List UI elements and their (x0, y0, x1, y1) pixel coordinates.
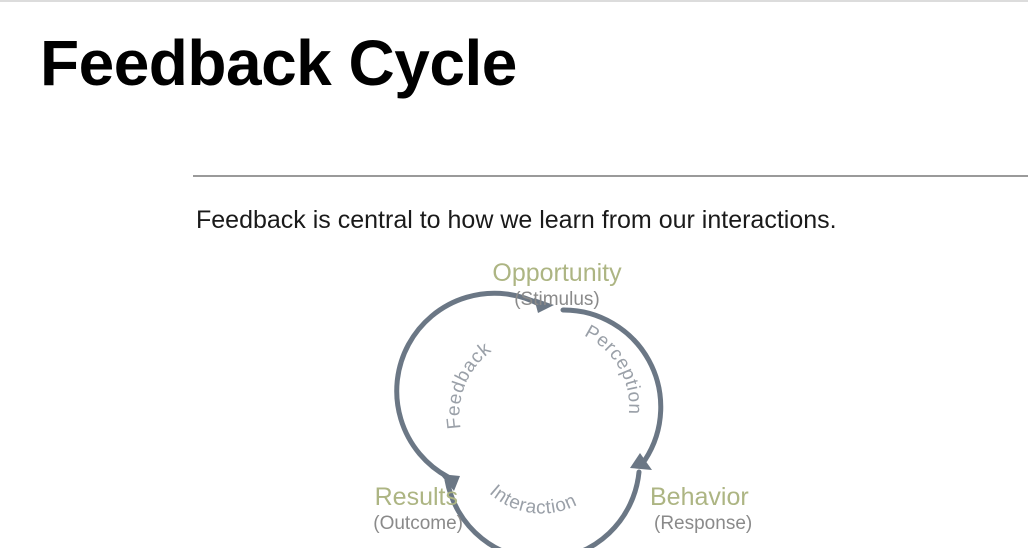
arc-label-interaction-text: Interaction (486, 481, 580, 519)
feedback-cycle-diagram: Perception Interaction Feedback Opportun… (330, 248, 790, 548)
cycle-node-opportunity: Opportunity (Stimulus) (492, 259, 622, 310)
arc-label-perception: Perception (581, 321, 645, 415)
arc-label-feedback-text: Feedback (443, 338, 495, 430)
title-divider (193, 175, 1028, 177)
cycle-arc-labels: Perception Interaction Feedback (443, 321, 645, 518)
cycle-node-opportunity-label: Opportunity (492, 259, 622, 287)
cycle-node-opportunity-sublabel: (Stimulus) (514, 289, 600, 310)
arc-perception (563, 310, 661, 460)
page-title: Feedback Cycle (40, 30, 517, 97)
arc-label-interaction: Interaction (486, 481, 580, 519)
arc-label-perception-text: Perception (581, 321, 645, 415)
slide-subtitle: Feedback is central to how we learn from… (196, 206, 837, 235)
cycle-node-behavior: Behavior (Response) (650, 483, 752, 534)
slide-canvas: Feedback Cycle Feedback is central to ho… (0, 0, 1028, 535)
arc-label-feedback: Feedback (443, 338, 495, 430)
cycle-node-results: Results (Outcome) (373, 483, 463, 534)
cycle-node-results-sublabel: (Outcome) (373, 513, 463, 534)
top-hairline (0, 0, 1028, 2)
cycle-node-behavior-sublabel: (Response) (654, 513, 752, 534)
cycle-node-results-label: Results (375, 483, 458, 511)
cycle-node-behavior-label: Behavior (650, 483, 749, 511)
